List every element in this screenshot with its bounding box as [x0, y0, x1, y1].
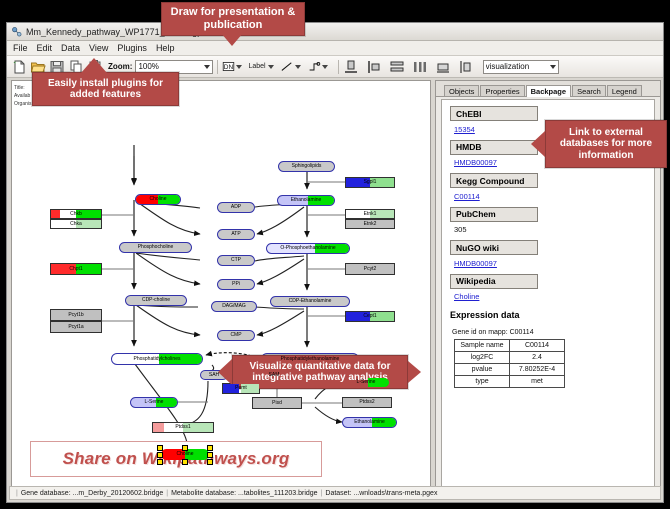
node-label: Chka [70, 222, 82, 227]
plugins-callout-arrow-icon [81, 58, 107, 73]
draw-callout-text: Draw for presentation & publication [162, 6, 304, 31]
tab-objects[interactable]: Objects [444, 85, 479, 96]
node-atp[interactable]: ATP [217, 229, 255, 240]
node-label: ADP [231, 205, 241, 210]
node-ptdss2[interactable]: Ptdss2 [342, 397, 392, 408]
node-label: Ptdss2 [359, 400, 374, 405]
node-etnk1[interactable]: Etnk1 [345, 209, 395, 219]
node-label: Etnk1 [364, 212, 377, 217]
node-label: Cept1 [363, 314, 376, 319]
tab-properties[interactable]: Properties [480, 85, 524, 96]
node-label: Ethanolamine [291, 198, 322, 203]
links-callout-arrow-icon [531, 131, 545, 157]
node-pisd[interactable]: Pisd [252, 397, 302, 409]
chevron-down-icon[interactable] [295, 65, 301, 69]
node-ctp[interactable]: CTP [217, 255, 255, 266]
dataset-status: Dataset: ...wnloads\trans-meta.pgex [325, 490, 437, 497]
node-l-serine-left[interactable]: L-Serine [130, 397, 178, 408]
datanode-tool[interactable]: DN [222, 60, 246, 73]
node-sphingolipids[interactable]: Sphingolipids [278, 161, 335, 172]
node-o-phosphoethanolamine[interactable]: O-Phosphoethanolamine [266, 243, 350, 254]
links-callout: Link to external databases for more info… [545, 120, 667, 168]
node-phosphatidylcholines[interactable]: Phosphatidylcholines [111, 353, 203, 365]
node-label: Sgpl1 [364, 180, 377, 185]
stack-rows-icon[interactable] [389, 59, 405, 75]
pubchem-value: 305 [454, 225, 654, 234]
zoom-label: Zoom: [108, 62, 132, 71]
statusbar-divider: | [321, 490, 323, 497]
metabolite-database-status: Metabolite database: ...tabolites_111203… [171, 490, 317, 497]
pathway-edges [12, 81, 431, 500]
node-label: L-Serine [357, 380, 376, 385]
same-height-icon[interactable] [458, 59, 474, 75]
node-pcyt2[interactable]: Pcyt2 [345, 263, 395, 275]
node-chpt1[interactable]: Chpt1 [50, 263, 102, 275]
menu-file[interactable]: File [13, 43, 28, 53]
node-pcyt1b[interactable]: Pcyt1b [50, 309, 102, 321]
wikipedia-header: Wikipedia [450, 274, 538, 289]
svg-text:DN: DN [224, 64, 234, 71]
node-label: Pcyt1b [68, 313, 83, 318]
node-cdp-choline[interactable]: CDP-choline [125, 295, 187, 306]
node-label: DAG/MAG [222, 304, 246, 309]
chevron-down-icon [550, 65, 556, 69]
node-label: Choline [150, 197, 167, 202]
selection-handle-ne[interactable] [207, 445, 213, 451]
kegg-compound-link[interactable]: C00114 [454, 192, 654, 201]
node-label: Phosphatidylethanolamine [281, 357, 340, 362]
label-tool[interactable]: Label [248, 63, 277, 70]
selection-handle-sw[interactable] [157, 459, 163, 465]
statusbar-divider: | [16, 490, 18, 497]
chevron-down-icon [204, 65, 210, 69]
label-tool-label: Label [248, 63, 265, 70]
node-ethanolamine-top[interactable]: Ethanolamine [277, 195, 335, 206]
node-label: ATP [231, 232, 240, 237]
pubchem-header: PubChem [450, 207, 538, 222]
datanode-icon: DN [222, 60, 235, 73]
toolbar-separator [338, 60, 339, 74]
nugo-wiki-link[interactable]: HMDB00097 [454, 259, 654, 268]
node-label: CDP-Ethanolamine [289, 299, 332, 304]
tab-backpage[interactable]: Backpage [526, 85, 571, 97]
selection-handle-e[interactable] [207, 452, 213, 458]
same-width-icon[interactable] [435, 59, 451, 75]
row-value: 2.4 [510, 352, 565, 364]
node-ppi[interactable]: PPi [217, 279, 255, 290]
align-left-icon[interactable] [366, 59, 382, 75]
plugins-callout: Easily install plugins for added feature… [32, 72, 179, 106]
node-label: Ethanolamine [354, 420, 385, 425]
gene-database-status: Gene database: ...m_Derby_20120602.bridg… [21, 490, 163, 497]
node-choline-top[interactable]: Choline [135, 194, 181, 205]
node-label: CTP [231, 258, 241, 263]
tab-legend[interactable]: Legend [607, 85, 642, 96]
selection-handle-n[interactable] [182, 445, 188, 451]
wikipedia-link[interactable]: Choline [454, 292, 654, 301]
row-value: met [510, 376, 565, 388]
node-phosphocholine[interactable]: Phosphocholine [119, 242, 192, 253]
line-icon [280, 61, 294, 73]
toolbar-separator [217, 60, 218, 74]
statusbar-divider: | [166, 490, 168, 497]
menu-data[interactable]: Data [61, 43, 80, 53]
node-label: Pcyt1a [68, 325, 83, 330]
node-adp[interactable]: ADP [217, 202, 255, 213]
node-label: Ptdss1 [175, 425, 190, 430]
node-label: SAM [269, 373, 280, 378]
selection-handle-se[interactable] [207, 459, 213, 465]
nugo-wiki-header: NuGO wiki [450, 240, 538, 255]
node-label: Pisd [272, 401, 282, 406]
node-ethanolamine-right[interactable]: Ethanolamine [342, 417, 397, 428]
plugins-callout-text: Easily install plugins for added feature… [33, 78, 178, 101]
draw-callout-arrow-icon [221, 33, 243, 46]
visualize-callout-arrow-left-icon [218, 359, 232, 385]
gene-id-on-mapp: Gene id on mapp: C00114 [452, 329, 654, 336]
node-label: Chkb [70, 212, 82, 217]
kegg-compound-header: Kegg Compound [450, 173, 538, 188]
node-dag-mag[interactable]: DAG/MAG [211, 301, 257, 312]
row-value: 7.80252E-4 [510, 364, 565, 376]
selection-handle-w[interactable] [157, 452, 163, 458]
node-label: Chpt1 [69, 267, 82, 272]
row-key: type [455, 376, 510, 388]
connector-icon [307, 60, 321, 73]
node-etnk2[interactable]: Etnk2 [345, 219, 395, 229]
window-titlebar: Mm_Kennedy_pathway_WP1771_45176.gpml [7, 23, 663, 41]
expression-table: Sample name C00114 log2FC 2.4 pvalue 7.8… [454, 339, 565, 388]
node-label: Etnk2 [364, 222, 377, 227]
menu-view[interactable]: View [89, 43, 108, 53]
node-label: CMP [230, 333, 241, 338]
visualization-combobox[interactable]: visualization [483, 60, 559, 74]
new-file-icon[interactable] [11, 59, 27, 75]
node-label: Pcyt2 [364, 267, 377, 272]
draw-callout: Draw for presentation & publication [161, 2, 305, 36]
node-label: SAH [209, 373, 219, 378]
line-tool[interactable] [280, 61, 305, 73]
chevron-down-icon[interactable] [322, 65, 328, 69]
node-label: Phosphatidylcholines [134, 357, 181, 362]
node-label: Pemt [235, 386, 247, 391]
node-cdp-ethanolamine[interactable]: CDP-Ethanolamine [270, 296, 350, 307]
node-cept1[interactable]: Cept1 [345, 311, 395, 322]
node-chkb[interactable]: Chkb [50, 209, 102, 219]
node-chka[interactable]: Chka [50, 219, 102, 229]
node-label: Phosphocholine [138, 245, 174, 250]
node-label: Sphingolipids [292, 164, 322, 169]
table-row: log2FC 2.4 [455, 352, 565, 364]
chevron-down-icon[interactable] [236, 65, 242, 69]
node-cmp[interactable]: CMP [217, 330, 255, 341]
chebi-header: ChEBI [450, 106, 538, 121]
menubar: File Edit Data View Plugins Help [7, 41, 663, 56]
screenshot-root: Mm_Kennedy_pathway_WP1771_45176.gpml Fil… [0, 0, 670, 509]
pathvisio-app-icon [11, 26, 22, 37]
menu-edit[interactable]: Edit [37, 43, 53, 53]
pathway-canvas[interactable]: Title: Availab Organis [11, 80, 431, 500]
chevron-down-icon[interactable] [268, 65, 274, 69]
row-key: log2FC [455, 352, 510, 364]
table-row: Sample name C00114 [455, 340, 565, 352]
visualize-callout-arrow-right-icon [408, 361, 421, 383]
expression-data-header: Expression data [450, 310, 654, 320]
zoom-value: 100% [138, 62, 158, 71]
node-label: PPi [232, 282, 240, 287]
node-label: L-Serine [145, 400, 164, 405]
table-row: type met [455, 376, 565, 388]
selection-handle-nw[interactable] [157, 445, 163, 451]
row-key: Sample name [455, 340, 510, 352]
visualization-value: visualization [486, 62, 530, 71]
tab-search[interactable]: Search [572, 85, 606, 96]
menu-help[interactable]: Help [156, 43, 175, 53]
node-label: CDP-choline [142, 298, 170, 303]
menu-plugins[interactable]: Plugins [117, 43, 147, 53]
hmdb-header: HMDB [450, 140, 538, 155]
node-pcyt1a[interactable]: Pcyt1a [50, 321, 102, 333]
node-sgpl1[interactable]: Sgpl1 [345, 177, 395, 188]
node-pemt[interactable]: Pemt [222, 383, 260, 394]
node-label: Choline [177, 452, 194, 457]
distribute-horizontal-icon[interactable] [412, 59, 428, 75]
row-value: C00114 [510, 340, 565, 352]
row-key: pvalue [455, 364, 510, 376]
align-bottom-icon[interactable] [343, 59, 359, 75]
node-ptdss1[interactable]: Ptdss1 [152, 422, 214, 433]
node-label: O-Phosphoethanolamine [280, 246, 335, 251]
panel-tabstrip: Objects Properties Backpage Search Legen… [436, 81, 660, 97]
selection-handle-s[interactable] [182, 459, 188, 465]
statusbar: | Gene database: ...m_Derby_20120602.bri… [9, 486, 661, 500]
table-row: pvalue 7.80252E-4 [455, 364, 565, 376]
links-callout-text: Link to external databases for more info… [550, 127, 662, 162]
connector-tool[interactable] [307, 60, 332, 73]
